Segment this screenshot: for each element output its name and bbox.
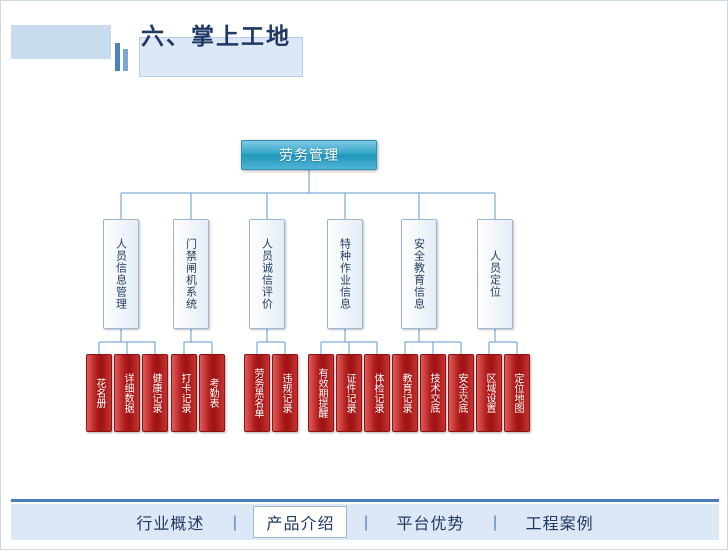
node-branch-5[interactable]: 安全教育信息 (401, 219, 437, 329)
node-branch-6[interactable]: 人员定位 (477, 219, 513, 329)
node-leaf-5-3[interactable]: 安全交底 (448, 354, 474, 432)
page-title: 六、掌上工地 (141, 21, 291, 53)
node-branch-1[interactable]: 人员信息管理 (103, 219, 139, 329)
node-branch-3[interactable]: 人员诚信评价 (249, 219, 285, 329)
node-branch-4[interactable]: 特种作业信息 (327, 219, 363, 329)
footer-nav-item-3[interactable]: 平台优势 (385, 508, 477, 536)
node-leaf-4-2[interactable]: 证件记录 (336, 354, 362, 432)
node-leaf-2-2[interactable]: 考勤表 (199, 354, 225, 432)
node-branch-2[interactable]: 门禁闸机系统 (173, 219, 209, 329)
footer-separator: | (347, 513, 384, 531)
footer-nav-item-1[interactable]: 行业概述 (124, 508, 216, 536)
org-chart: 劳务管理 人员信息管理花名册详细数据健康记录门禁闸机系统打卡记录考勤表人员诚信评… (1, 1, 728, 551)
node-leaf-1-1[interactable]: 花名册 (86, 354, 112, 432)
slide-canvas: 六、掌上工地 劳务管理 人员信息管理花名册详细数据健康记录门禁闸机系统打卡记录考… (0, 0, 728, 550)
footer-rule (11, 499, 719, 502)
node-leaf-1-2[interactable]: 详细数据 (114, 354, 140, 432)
node-leaf-6-2[interactable]: 定位地图 (504, 354, 530, 432)
node-leaf-2-1[interactable]: 打卡记录 (171, 354, 197, 432)
node-leaf-1-3[interactable]: 健康记录 (142, 354, 168, 432)
footer-separator: | (216, 513, 253, 531)
footer-nav-item-4[interactable]: 工程案例 (514, 508, 606, 536)
node-leaf-4-1[interactable]: 有效期提醒 (308, 354, 334, 432)
slide-header (11, 21, 719, 63)
node-leaf-4-3[interactable]: 体检记录 (364, 354, 390, 432)
node-leaf-5-1[interactable]: 教育记录 (392, 354, 418, 432)
node-root[interactable]: 劳务管理 (241, 140, 377, 170)
header-tick-marks-icon (115, 43, 137, 71)
diagram-connectors (1, 1, 728, 551)
footer-separator: | (477, 513, 514, 531)
footer-nav: 行业概述|产品介绍|平台优势|工程案例 (11, 504, 719, 540)
node-leaf-6-1[interactable]: 区域设置 (476, 354, 502, 432)
node-leaf-3-2[interactable]: 违规记录 (272, 354, 298, 432)
header-decor-bar (11, 25, 111, 59)
node-leaf-3-1[interactable]: 劳务黑名单 (244, 354, 270, 432)
node-leaf-5-2[interactable]: 技术交底 (420, 354, 446, 432)
footer-nav-item-2[interactable]: 产品介绍 (253, 506, 347, 538)
